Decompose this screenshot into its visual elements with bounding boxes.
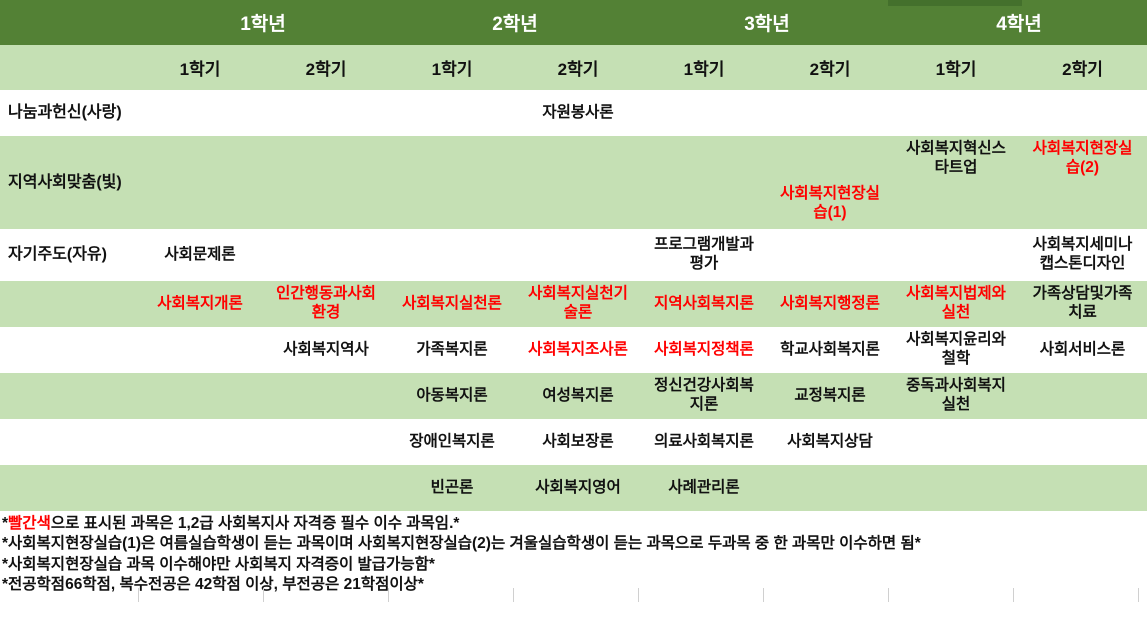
course-cell[interactable]: 사회복지실천기 술론 (515, 281, 641, 327)
gridline-tick (263, 588, 264, 602)
course-cell[interactable]: 의료사회복지론 (641, 419, 767, 465)
course-cell[interactable]: 정신건강사회복 지론 (641, 373, 767, 419)
empty-cell (767, 465, 893, 511)
curriculum-table-sheet: 1학년 2학년 3학년 4학년 1학기 2학기 1학기 2학기 1학기 2학기 … (0, 0, 1147, 619)
footnote-highlight: 빨간색 (8, 515, 51, 532)
year-header-3: 3학년 (641, 0, 893, 45)
course-cell[interactable]: 사회복지실천론 (389, 281, 515, 327)
row-category-label (0, 281, 137, 327)
table-row: 빈곤론사회복지영어사례관리론 (0, 465, 1147, 511)
row-category-label (0, 465, 137, 511)
empty-cell (263, 465, 389, 511)
empty-cell (893, 90, 1019, 136)
table-row: 장애인복지론사회보장론의료사회복지론사회복지상담 (0, 419, 1147, 465)
semester-header-3-1: 1학기 (641, 45, 767, 90)
course-cell[interactable]: 사회복지혁신스 타트업 (893, 136, 1019, 229)
empty-cell (137, 373, 263, 419)
footnote-line: *사회복지현장실습 과목 이수해야만 사회복지 자격증이 발급가능함* (2, 555, 1145, 575)
empty-cell (893, 229, 1019, 281)
table-row: 지역사회맞춤(빛)사회복지현장실 습(1)사회복지혁신스 타트업사회복지현장실 … (0, 136, 1147, 229)
gridline-tick (1013, 588, 1014, 602)
course-cell[interactable]: 여성복지론 (515, 373, 641, 419)
gridline-tick (638, 588, 639, 602)
course-cell[interactable]: 빈곤론 (389, 465, 515, 511)
course-cell[interactable]: 자원봉사론 (515, 90, 641, 136)
empty-cell (767, 90, 893, 136)
semester-header-row: 1학기 2학기 1학기 2학기 1학기 2학기 1학기 2학기 (0, 45, 1147, 90)
empty-cell (263, 90, 389, 136)
gridline-tick (1138, 588, 1139, 602)
empty-cell (389, 229, 515, 281)
empty-cell: 사회복지현장실 습(2) (1019, 136, 1146, 229)
empty-cell (893, 465, 1019, 511)
bottom-gridline-marks (0, 588, 1147, 602)
course-cell[interactable]: 사회복지역사 (263, 327, 389, 373)
course-cell[interactable]: 교정복지론 (767, 373, 893, 419)
course-cell[interactable]: 사회복지조사론 (515, 327, 641, 373)
year-header-1: 1학년 (137, 0, 389, 45)
empty-cell (767, 229, 893, 281)
course-cell[interactable]: 사회복지영어 (515, 465, 641, 511)
semester-header-1-1: 1학기 (137, 45, 263, 90)
course-cell[interactable]: 사회복지개론 (137, 281, 263, 327)
semester-header-1-2: 2학기 (263, 45, 389, 90)
course-cell[interactable]: 중독과사회복지 실천 (893, 373, 1019, 419)
table-row: 아동복지론여성복지론정신건강사회복 지론교정복지론중독과사회복지 실천 (0, 373, 1147, 419)
course-cell[interactable]: 사회복지상담 (767, 419, 893, 465)
semester-header-2-2: 2학기 (515, 45, 641, 90)
footnotes: *빨간색으로 표시된 과목은 1,2급 사회복지사 자격증 필수 이수 과목임.… (0, 511, 1147, 596)
course-cell[interactable]: 사회복지행정론 (767, 281, 893, 327)
course-cell[interactable]: 아동복지론 (389, 373, 515, 419)
empty-cell (389, 136, 515, 229)
course-cell[interactable]: 사회보장론 (515, 419, 641, 465)
header-accent-strip (888, 0, 1022, 6)
empty-cell (1019, 419, 1146, 465)
header-corner-cell (0, 0, 137, 45)
empty-cell (263, 419, 389, 465)
year-header-2: 2학년 (389, 0, 641, 45)
course-cell[interactable]: 사회문제론 (137, 229, 263, 281)
semester-header-corner (0, 45, 137, 90)
curriculum-body: 나눔과헌신(사랑)자원봉사론지역사회맞춤(빛)사회복지현장실 습(1)사회복지혁… (0, 90, 1147, 511)
empty-cell (263, 136, 389, 229)
course-cell[interactable]: 사회서비스론 (1019, 327, 1146, 373)
course-cell[interactable]: 사회복지정책론 (641, 327, 767, 373)
empty-cell (263, 373, 389, 419)
table-row: 나눔과헌신(사랑)자원봉사론 (0, 90, 1147, 136)
footnote-line: *사회복지현장실습(1)은 여름실습학생이 듣는 과목이며 사회복지현장실습(2… (2, 534, 1145, 554)
table-row: 사회복지개론인간행동과사회 환경사회복지실천론사회복지실천기 술론지역사회복지론… (0, 281, 1147, 327)
course-cell[interactable]: 사회복지현장실 습(2) (1033, 140, 1133, 178)
row-category-label: 자기주도(자유) (0, 229, 137, 281)
course-cell[interactable]: 사회복지세미나 캡스톤디자인 (1019, 229, 1146, 281)
empty-cell (515, 136, 641, 229)
empty-cell (641, 136, 767, 229)
course-cell[interactable]: 사회복지법제와 실천 (893, 281, 1019, 327)
year-header-4: 4학년 (893, 0, 1145, 45)
row-category-label (0, 327, 137, 373)
course-cell[interactable]: 사례관리론 (641, 465, 767, 511)
empty-cell (1019, 373, 1146, 419)
table-row: 사회복지역사가족복지론사회복지조사론사회복지정책론학교사회복지론사회복지윤리와 … (0, 327, 1147, 373)
semester-header-4-1: 1학기 (893, 45, 1019, 90)
row-category-label: 지역사회맞춤(빛) (0, 136, 137, 229)
empty-cell (515, 229, 641, 281)
course-cell[interactable]: 사회복지현장실 습(1) (767, 136, 893, 229)
gridline-tick (388, 588, 389, 602)
empty-cell (137, 327, 263, 373)
course-cell[interactable]: 인간행동과사회 환경 (263, 281, 389, 327)
row-category-label (0, 373, 137, 419)
empty-cell (389, 90, 515, 136)
empty-cell (1019, 465, 1146, 511)
course-cell[interactable]: 장애인복지론 (389, 419, 515, 465)
semester-header-4-2: 2학기 (1019, 45, 1146, 90)
course-cell[interactable]: 지역사회복지론 (641, 281, 767, 327)
empty-cell (1019, 90, 1146, 136)
gridline-tick (138, 588, 139, 602)
course-cell[interactable]: 학교사회복지론 (767, 327, 893, 373)
year-header-row: 1학년 2학년 3학년 4학년 (0, 0, 1147, 45)
footnote-line: *빨간색으로 표시된 과목은 1,2급 사회복지사 자격증 필수 이수 과목임.… (2, 514, 1145, 534)
table-row: 자기주도(자유)사회문제론프로그램개발과 평가사회복지세미나 캡스톤디자인 (0, 229, 1147, 281)
course-cell[interactable]: 사회복지윤리와 철학 (893, 327, 1019, 373)
footnote-text: 으로 표시된 과목은 1,2급 사회복지사 자격증 필수 이수 과목임.* (51, 515, 460, 532)
empty-cell (137, 419, 263, 465)
semester-header-2-1: 1학기 (389, 45, 515, 90)
course-cell[interactable]: 가족복지론 (389, 327, 515, 373)
row-category-label (0, 419, 137, 465)
semester-header-3-2: 2학기 (767, 45, 893, 90)
gridline-tick (763, 588, 764, 602)
row-category-label: 나눔과헌신(사랑) (0, 90, 137, 136)
empty-cell (137, 90, 263, 136)
empty-cell (137, 136, 263, 229)
empty-cell (263, 229, 389, 281)
empty-cell (641, 90, 767, 136)
empty-cell (137, 465, 263, 511)
gridline-tick (888, 588, 889, 602)
empty-cell (893, 419, 1019, 465)
course-cell[interactable]: 가족상담및가족 치료 (1019, 281, 1146, 327)
course-cell[interactable]: 프로그램개발과 평가 (641, 229, 767, 281)
gridline-tick (513, 588, 514, 602)
